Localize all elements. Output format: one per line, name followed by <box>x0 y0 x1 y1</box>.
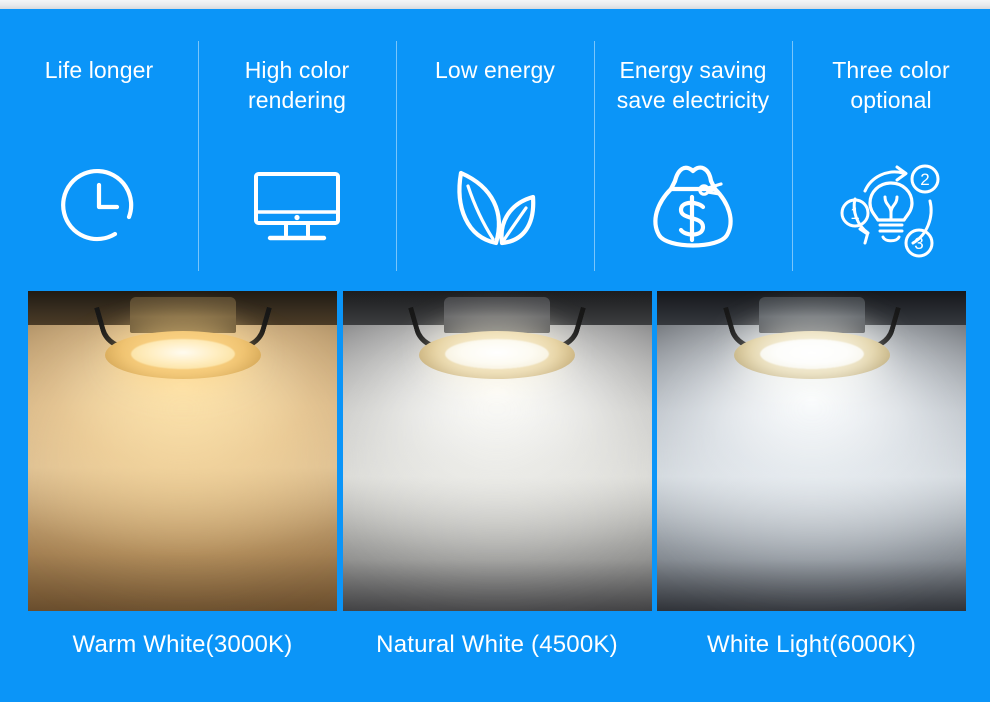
photo-white-light <box>657 291 966 611</box>
bulb-number-1: 1 <box>850 204 859 223</box>
feature-high-color-rendering: High color rendering <box>198 9 396 277</box>
three-color-bulb-icon: 2 1 3 <box>839 155 943 259</box>
downlight-fixture <box>402 297 592 381</box>
feature-three-color-optional: Three color optional <box>792 9 990 277</box>
downlight-fixture <box>88 297 278 381</box>
clock-icon <box>47 155 151 259</box>
top-gray-strip <box>0 0 990 9</box>
photo-warm-white <box>28 291 337 611</box>
caption-warm-white: Warm White(3000K) <box>28 622 337 668</box>
downlight-fixture <box>717 297 907 381</box>
product-feature-banner: Life longer High color rendering <box>0 0 990 702</box>
photo-natural-white <box>343 291 652 611</box>
bulb-number-2: 2 <box>920 170 929 189</box>
monitor-icon <box>245 155 349 259</box>
leaves-icon <box>443 155 547 259</box>
feature-low-energy: Low energy <box>396 9 594 277</box>
money-bag-icon <box>641 155 745 259</box>
feature-energy-saving: Energy saving save electricity <box>594 9 792 277</box>
feature-title: Life longer <box>0 55 198 85</box>
fixture-lens <box>131 339 235 369</box>
feature-title: Three color optional <box>792 55 990 115</box>
bulb-number-3: 3 <box>914 234 923 253</box>
fixture-lens <box>445 339 549 369</box>
feature-title: Energy saving save electricity <box>594 55 792 115</box>
feature-life-longer: Life longer <box>0 9 198 277</box>
color-temperature-caption-row: Warm White(3000K) Natural White (4500K) … <box>28 622 966 668</box>
color-temperature-photo-row <box>28 291 966 611</box>
caption-natural-white: Natural White (4500K) <box>343 622 652 668</box>
fixture-lens <box>760 339 864 369</box>
caption-white-light: White Light(6000K) <box>657 622 966 668</box>
feature-title: Low energy <box>396 55 594 85</box>
feature-row: Life longer High color rendering <box>0 9 990 277</box>
feature-title: High color rendering <box>198 55 396 115</box>
